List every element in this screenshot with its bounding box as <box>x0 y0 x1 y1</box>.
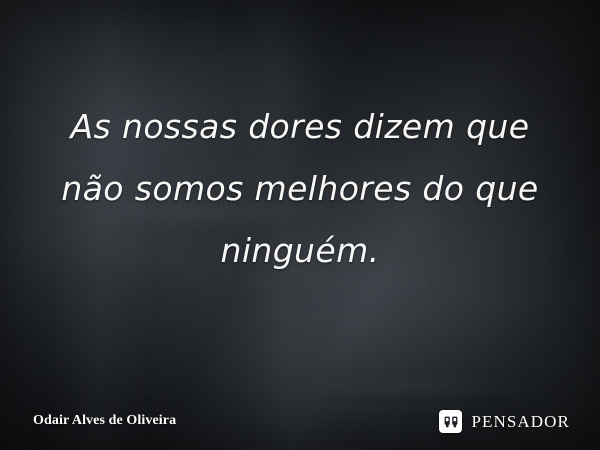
quote-card: As nossas dores dizem que não somos melh… <box>0 0 600 450</box>
quote-text: As nossas dores dizem que não somos melh… <box>0 96 600 282</box>
author-name: Odair Alves de Oliveira <box>33 413 176 429</box>
brand-name-label: PENSADOR <box>471 412 570 432</box>
quotation-mark-icon <box>439 410 462 433</box>
pensador-logo[interactable]: PENSADOR <box>439 410 570 433</box>
